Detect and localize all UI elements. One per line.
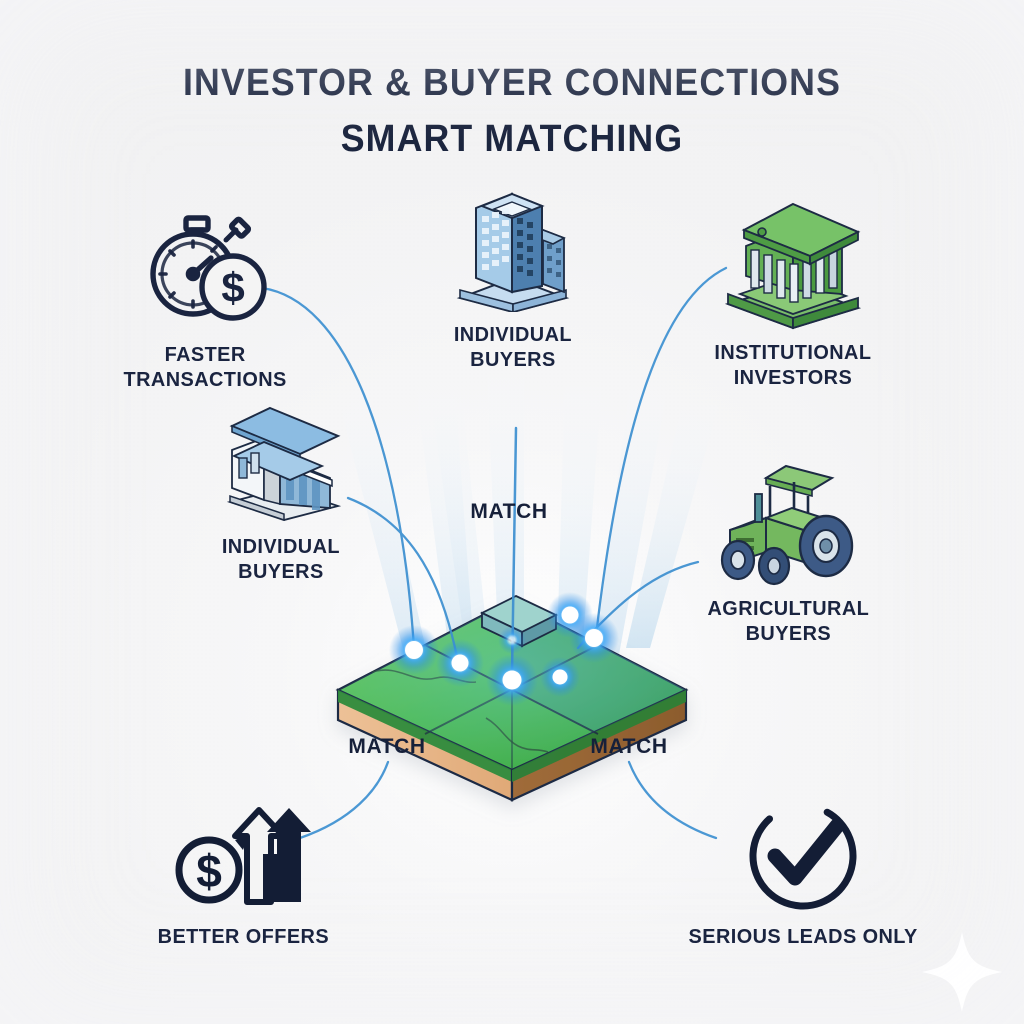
infographic-canvas: INVESTOR & BUYER CONNECTIONS SMART MATCH… [0,0,1024,1024]
check-circle-icon [745,782,861,914]
node-individual-buyers-house[interactable]: INDIVIDUAL BUYERS [151,392,411,584]
stopwatch-dollar-icon: $ [141,200,269,332]
node-caption: AGRICULTURAL BUYERS [707,596,869,646]
node-better-offers[interactable]: $ BETTER OFFERS [113,782,373,949]
node-institutional-investors[interactable]: INSTITUTIONAL INVESTORS [663,198,923,390]
node-serious-leads-only[interactable]: SERIOUS LEADS ONLY [673,782,933,949]
node-caption: SERIOUS LEADS ONLY [688,924,917,949]
node-caption: INDIVIDUAL BUYERS [454,322,572,372]
tractor-icon [708,454,868,586]
node-agricultural-buyers[interactable]: AGRICULTURAL BUYERS [658,454,918,646]
match-label-top: MATCH [470,500,547,524]
node-caption: FASTER TRANSACTIONS [123,342,286,392]
node-caption: INDIVIDUAL BUYERS [222,534,340,584]
node-faster-transactions[interactable]: $ FASTER TRANSACTIONS [75,200,335,392]
match-label-bottom-right: MATCH [590,735,667,759]
match-label-bottom-left: MATCH [348,735,425,759]
node-caption: BETTER OFFERS [157,924,328,949]
bank-building-icon [718,198,868,330]
skyscraper-icon [448,180,578,312]
house-icon [206,392,356,524]
svg-text:$: $ [221,264,244,311]
node-individual-buyers-tower[interactable]: INDIVIDUAL BUYERS [383,180,643,372]
svg-text:$: $ [196,845,222,897]
dollar-growth-arrows-icon: $ [171,782,315,914]
node-glow-group [389,592,619,706]
node-caption: INSTITUTIONAL INVESTORS [714,340,871,390]
